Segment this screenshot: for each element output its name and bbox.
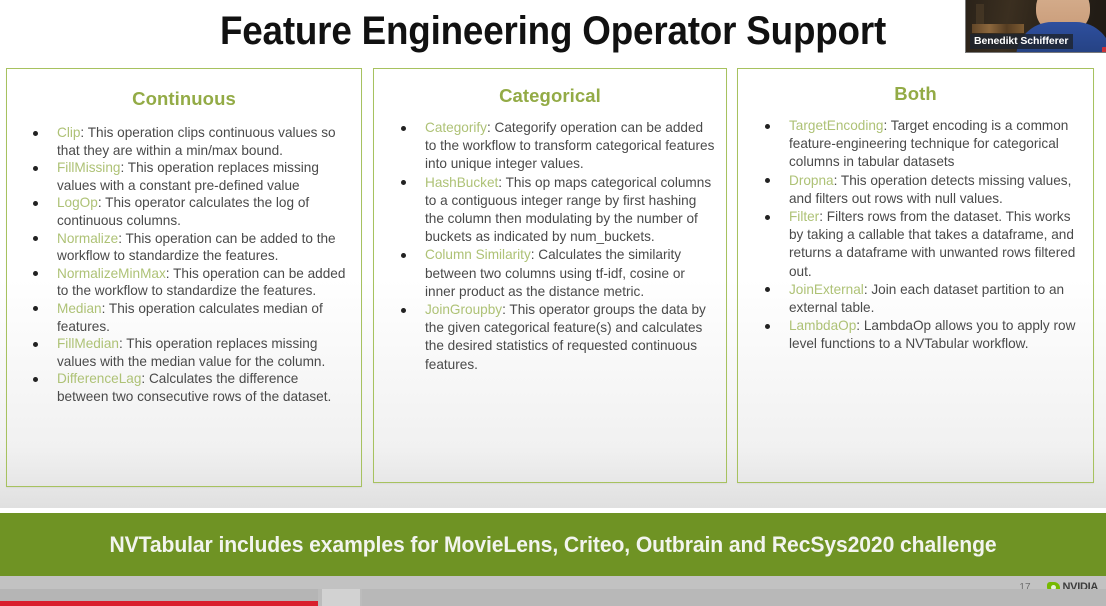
list-item: JoinGroupby: This operator groups the da… [393,301,716,374]
list-item: Column Similarity: Calculates the simila… [393,246,716,301]
operator-desc: : This operation clips continuous values… [57,125,336,158]
list-item: LambdaOp: LambdaOp allows you to apply r… [757,317,1085,353]
card-heading-categorical: Categorical [374,85,726,107]
slide-footer: 17 NVIDIA [0,576,1106,589]
operator-term: NormalizeMinMax [57,266,166,281]
webcam-shirt-logo [1102,47,1106,53]
webcam-participant-name: Benedikt Schifferer [970,34,1073,49]
summary-banner: NVTabular includes examples for MovieLen… [0,513,1106,576]
operator-term: HashBucket [425,175,498,190]
operator-term: Clip [57,125,80,140]
card-continuous: Continuous Clip: This operation clips co… [6,68,362,487]
slide-content-area: Feature Engineering Operator Support Con… [0,0,1106,508]
operator-columns: Continuous Clip: This operation clips co… [0,68,1106,493]
operator-list-continuous: Clip: This operation clips continuous va… [25,124,352,406]
operator-term: Dropna [789,173,834,188]
list-item: TargetEncoding: Target encoding is a com… [757,117,1085,172]
summary-banner-text: NVTabular includes examples for MovieLen… [109,532,996,558]
title-bar: Feature Engineering Operator Support [0,0,1106,62]
footer-right-group: 17 NVIDIA [1019,581,1098,589]
operator-term: Filter [789,209,819,224]
nvidia-logo: NVIDIA [1047,581,1098,589]
page-title: Feature Engineering Operator Support [220,10,886,52]
bottom-panel-middle[interactable] [322,589,360,606]
operator-term: Categorify [425,120,487,135]
webcam-shelf-upright [976,4,984,24]
operator-term: LambdaOp [789,318,856,333]
list-item: Categorify: Categorify operation can be … [393,119,716,174]
operator-term: DifferenceLag [57,371,141,386]
active-tab-underline [0,601,318,606]
list-item: Normalize: This operation can be added t… [25,230,352,265]
list-item: FillMissing: This operation replaces mis… [25,159,352,194]
list-item: Median: This operation calculates median… [25,300,352,335]
operator-term: Normalize [57,231,118,246]
card-heading-both: Both [738,83,1093,105]
card-heading-continuous: Continuous [7,88,361,110]
operator-desc: : Filters rows from the dataset. This wo… [789,209,1075,279]
bottom-panel-right[interactable] [362,589,1106,606]
list-item: LogOp: This operator calculates the log … [25,194,352,229]
operator-term: Median [57,301,102,316]
list-item: HashBucket: This op maps categorical col… [393,174,716,247]
operator-list-categorical: Categorify: Categorify operation can be … [393,119,716,374]
list-item: Dropna: This operation detects missing v… [757,172,1085,208]
list-item: FillMedian: This operation replaces miss… [25,335,352,370]
slide-canvas: Feature Engineering Operator Support Con… [0,0,1106,589]
operator-term: Column Similarity [425,247,531,262]
card-both: Both TargetEncoding: Target encoding is … [737,68,1094,483]
list-item: DifferenceLag: Calculates the difference… [25,370,352,405]
nvidia-eye-icon [1047,582,1060,590]
operator-term: JoinExternal [789,282,864,297]
operator-term: LogOp [57,195,98,210]
card-categorical: Categorical Categorify: Categorify opera… [373,68,727,483]
list-item: Clip: This operation clips continuous va… [25,124,352,159]
page-number: 17 [1019,582,1030,590]
webcam-thumbnail[interactable]: Benedikt Schifferer [965,0,1106,53]
operator-term: TargetEncoding [789,118,883,133]
operator-term: FillMedian [57,336,119,351]
operator-term: JoinGroupby [425,302,502,317]
webcam-bookshelf [972,24,1024,33]
list-item: NormalizeMinMax: This operation can be a… [25,265,352,300]
operator-list-both: TargetEncoding: Target encoding is a com… [757,117,1085,354]
nvidia-wordmark: NVIDIA [1063,581,1098,589]
list-item: JoinExternal: Join each dataset partitio… [757,281,1085,317]
list-item: Filter: Filters rows from the dataset. T… [757,208,1085,281]
operator-term: FillMissing [57,160,120,175]
